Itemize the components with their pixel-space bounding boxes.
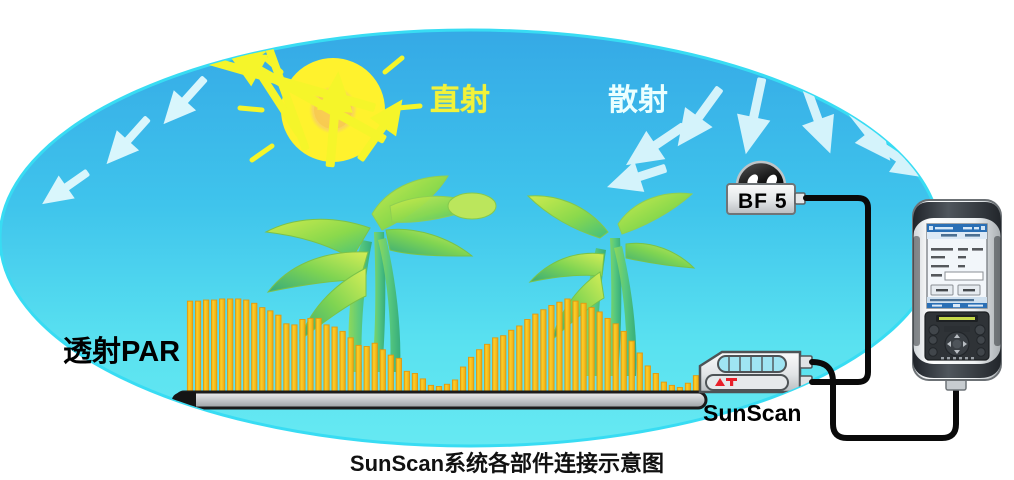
par-bar <box>533 314 538 394</box>
par-bar <box>219 299 224 394</box>
handheld-device[interactable] <box>913 200 1001 390</box>
par-bar <box>597 312 602 394</box>
par-bar <box>396 358 401 394</box>
par-bar <box>300 319 305 394</box>
par-bar <box>276 315 281 394</box>
par-bar <box>244 300 249 394</box>
par-bar <box>284 324 289 394</box>
par-bar <box>468 357 473 394</box>
par-bar <box>589 308 594 394</box>
par-bar <box>637 353 642 394</box>
par-bar <box>236 299 241 394</box>
par-bar <box>565 299 570 394</box>
par-bar <box>557 302 562 394</box>
device-keypad[interactable] <box>925 312 989 360</box>
par-bar <box>476 350 481 394</box>
par-bar <box>517 326 522 394</box>
par-bar <box>541 310 546 394</box>
par-bar <box>308 318 313 394</box>
par-bar <box>372 343 377 394</box>
par-bar <box>356 345 361 394</box>
label-direct-radiation: 直射 <box>430 75 490 119</box>
par-bar <box>388 355 393 394</box>
par-bar <box>380 350 385 394</box>
par-bar <box>573 301 578 394</box>
label-diffuse-radiation: 散射 <box>608 75 668 119</box>
par-bar <box>525 319 530 394</box>
sunscan-terminal[interactable] <box>700 352 812 392</box>
diagram-svg <box>0 0 1014 480</box>
par-bar <box>509 330 514 394</box>
par-bar <box>332 327 337 394</box>
device-screen[interactable] <box>927 224 987 308</box>
par-bar <box>605 318 610 394</box>
figure-canvas: 直射 散射 透射PAR SunScan BF 5 SunScan系统各部件连接示… <box>0 0 1014 480</box>
par-bar <box>460 367 465 394</box>
par-bar <box>629 341 634 394</box>
par-bar <box>549 305 554 394</box>
par-bar <box>187 301 192 394</box>
label-transmitted-par: 透射PAR <box>63 328 180 370</box>
par-bar <box>348 338 353 394</box>
par-bar <box>268 311 273 394</box>
figure-caption: SunScan系统各部件连接示意图 <box>0 446 1014 478</box>
sunscan-probe-wand <box>172 392 706 408</box>
par-bar <box>581 303 586 394</box>
par-bar <box>228 299 233 394</box>
par-bar <box>292 325 297 394</box>
label-bf5-sensor: BF 5 <box>738 190 788 214</box>
par-bar <box>195 301 200 394</box>
par-bar <box>211 300 216 394</box>
par-bar <box>493 338 498 394</box>
par-bar <box>324 325 329 394</box>
par-bar <box>501 336 506 394</box>
par-bar <box>621 331 626 394</box>
par-bar <box>485 344 490 394</box>
par-bar <box>613 324 618 394</box>
par-bar <box>316 318 321 394</box>
par-bar <box>364 346 369 394</box>
par-bar <box>340 331 345 394</box>
par-bar <box>203 300 208 394</box>
par-bar <box>645 366 650 394</box>
par-bar <box>252 303 257 394</box>
par-bar <box>260 308 265 394</box>
label-sunscan-probe: SunScan <box>703 400 801 427</box>
